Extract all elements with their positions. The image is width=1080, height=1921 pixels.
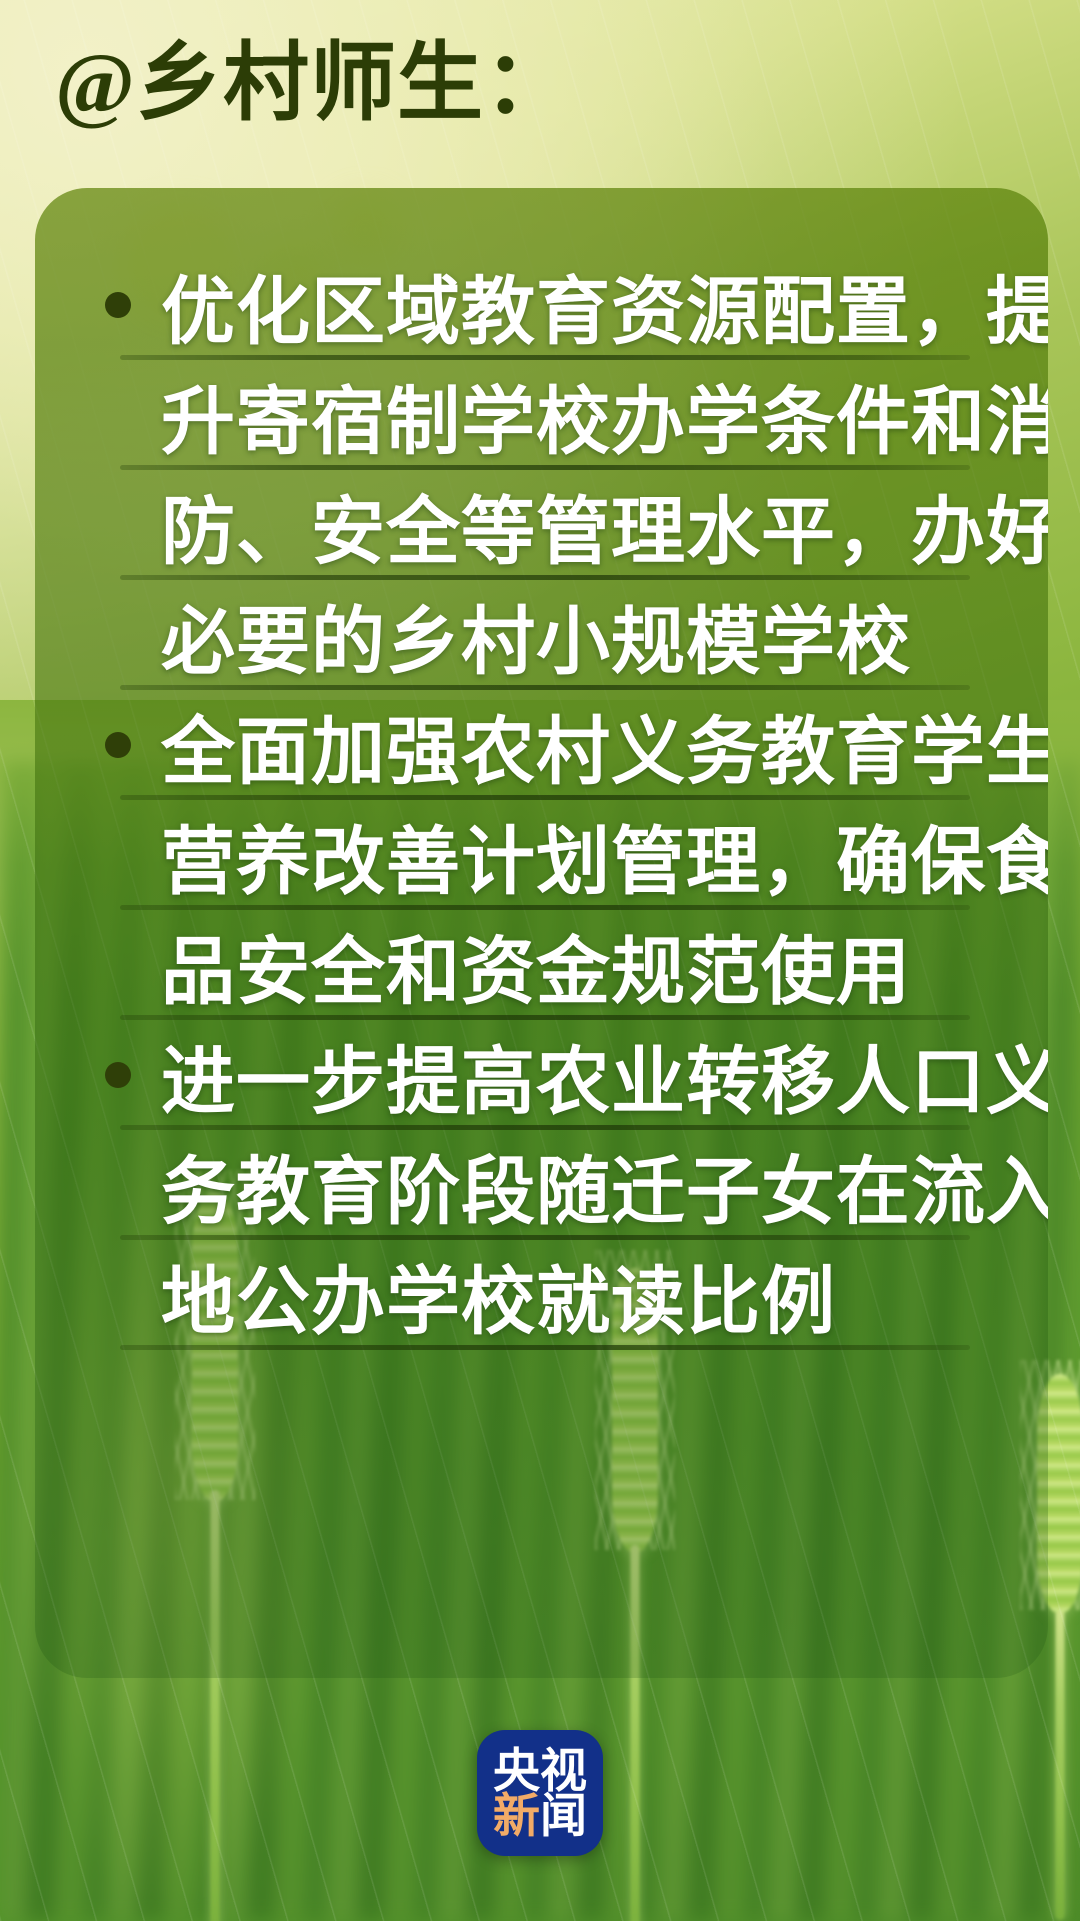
bullet-line-text: 全面加强农村义务教育学生 [161,692,1048,799]
poster-root: @乡村师生： 优化区域教育资源配置，提 升寄宿制学校办学条件和消 防 [0,0,1080,1921]
bullet-line-text: 品安全和资金规范使用 [161,912,911,1019]
text-line: 品安全和资金规范使用 [65,910,1018,1020]
text-line: 务教育阶段随迁子女在流入 [65,1130,1018,1240]
bullet-line-text: 进一步提高农业转移人口义 [161,1022,1048,1129]
list-item: 优化区域教育资源配置，提 升寄宿制学校办学条件和消 防、安全等管理水平，办好 必… [65,250,1018,690]
text-line: 进一步提高农业转移人口义 [65,1020,1018,1130]
text-line: 必要的乡村小规模学校 [65,580,1018,690]
bullet-line-text: 优化区域教育资源配置，提 [161,252,1048,359]
bullet-line-text: 必要的乡村小规模学校 [161,582,911,689]
text-line: 营养改善计划管理，确保食 [65,800,1018,910]
text-line: 防、安全等管理水平，办好 [65,470,1018,580]
logo-char-xin: 新 [493,1793,540,1838]
bullet-line-text: 升寄宿制学校办学条件和消 [161,362,1048,469]
list-item: 全面加强农村义务教育学生 营养改善计划管理，确保食 品安全和资金规范使用 [65,690,1018,1020]
logo-line-two: 新 闻 [493,1793,587,1838]
bullet-line-text: 防、安全等管理水平，办好 [161,472,1048,579]
text-line: 升寄宿制学校办学条件和消 [65,360,1018,470]
policy-bullet-list: 优化区域教育资源配置，提 升寄宿制学校办学条件和消 防、安全等管理水平，办好 必… [65,250,1018,1350]
bullet-line-text: 营养改善计划管理，确保食 [161,802,1048,909]
content-card-inner: 优化区域教育资源配置，提 升寄宿制学校办学条件和消 防、安全等管理水平，办好 必… [35,188,1048,1678]
text-line: 全面加强农村义务教育学生 [65,690,1018,800]
text-line: 优化区域教育资源配置，提 [65,250,1018,360]
list-item: 进一步提高农业转移人口义 务教育阶段随迁子女在流入 地公办学校就读比例 [65,1020,1018,1350]
text-line: 地公办学校就读比例 [65,1240,1018,1350]
bullet-line-text: 地公办学校就读比例 [161,1242,836,1349]
separator-line [120,1345,970,1350]
logo-char-wen: 闻 [540,1793,587,1838]
cctv-news-logo: 央视 新 闻 [477,1730,603,1856]
page-title: @乡村师生： [55,34,571,133]
content-card: 优化区域教育资源配置，提 升寄宿制学校办学条件和消 防、安全等管理水平，办好 必… [35,188,1048,1678]
bullet-line-text: 务教育阶段随迁子女在流入 [161,1132,1048,1239]
logo-line-one: 央视 [493,1748,587,1793]
